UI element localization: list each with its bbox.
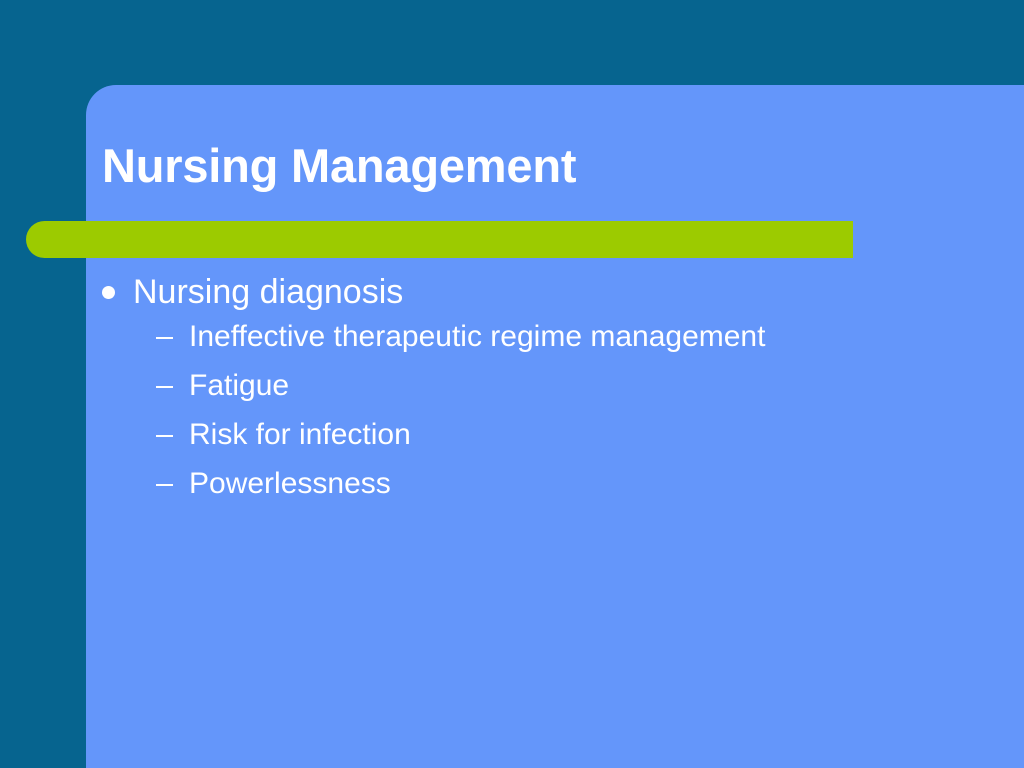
presentation-slide: Nursing Management Nursing diagnosis Ine… [0,0,1024,768]
en-dash-bullet-icon [156,484,173,486]
bullet-level2-list: Ineffective therapeutic regime managemen… [102,318,982,514]
bullet-level2-label: Fatigue [189,371,982,401]
slide-body: Nursing diagnosis Ineffective therapeuti… [102,272,982,514]
bullet-level2-label: Risk for infection [189,420,982,450]
en-dash-bullet-icon [156,337,173,339]
bullet-level2-item: Powerlessness [156,465,982,514]
title-underline-accent-bar [26,221,853,258]
slide-title: Nursing Management [102,140,962,192]
bullet-level2-item: Fatigue [156,367,982,416]
bullet-level2-label: Ineffective therapeutic regime managemen… [189,322,982,352]
bullet-level2-label: Powerlessness [189,469,982,499]
bullet-level1-label: Nursing diagnosis [133,272,982,312]
bullet-level2-item: Risk for infection [156,416,982,465]
en-dash-bullet-icon [156,386,173,388]
bullet-level2-item: Ineffective therapeutic regime managemen… [156,318,982,367]
en-dash-bullet-icon [156,435,173,437]
filled-circle-bullet-icon [102,286,115,299]
header-accent-block [0,0,358,86]
bullet-level1: Nursing diagnosis [102,272,982,312]
